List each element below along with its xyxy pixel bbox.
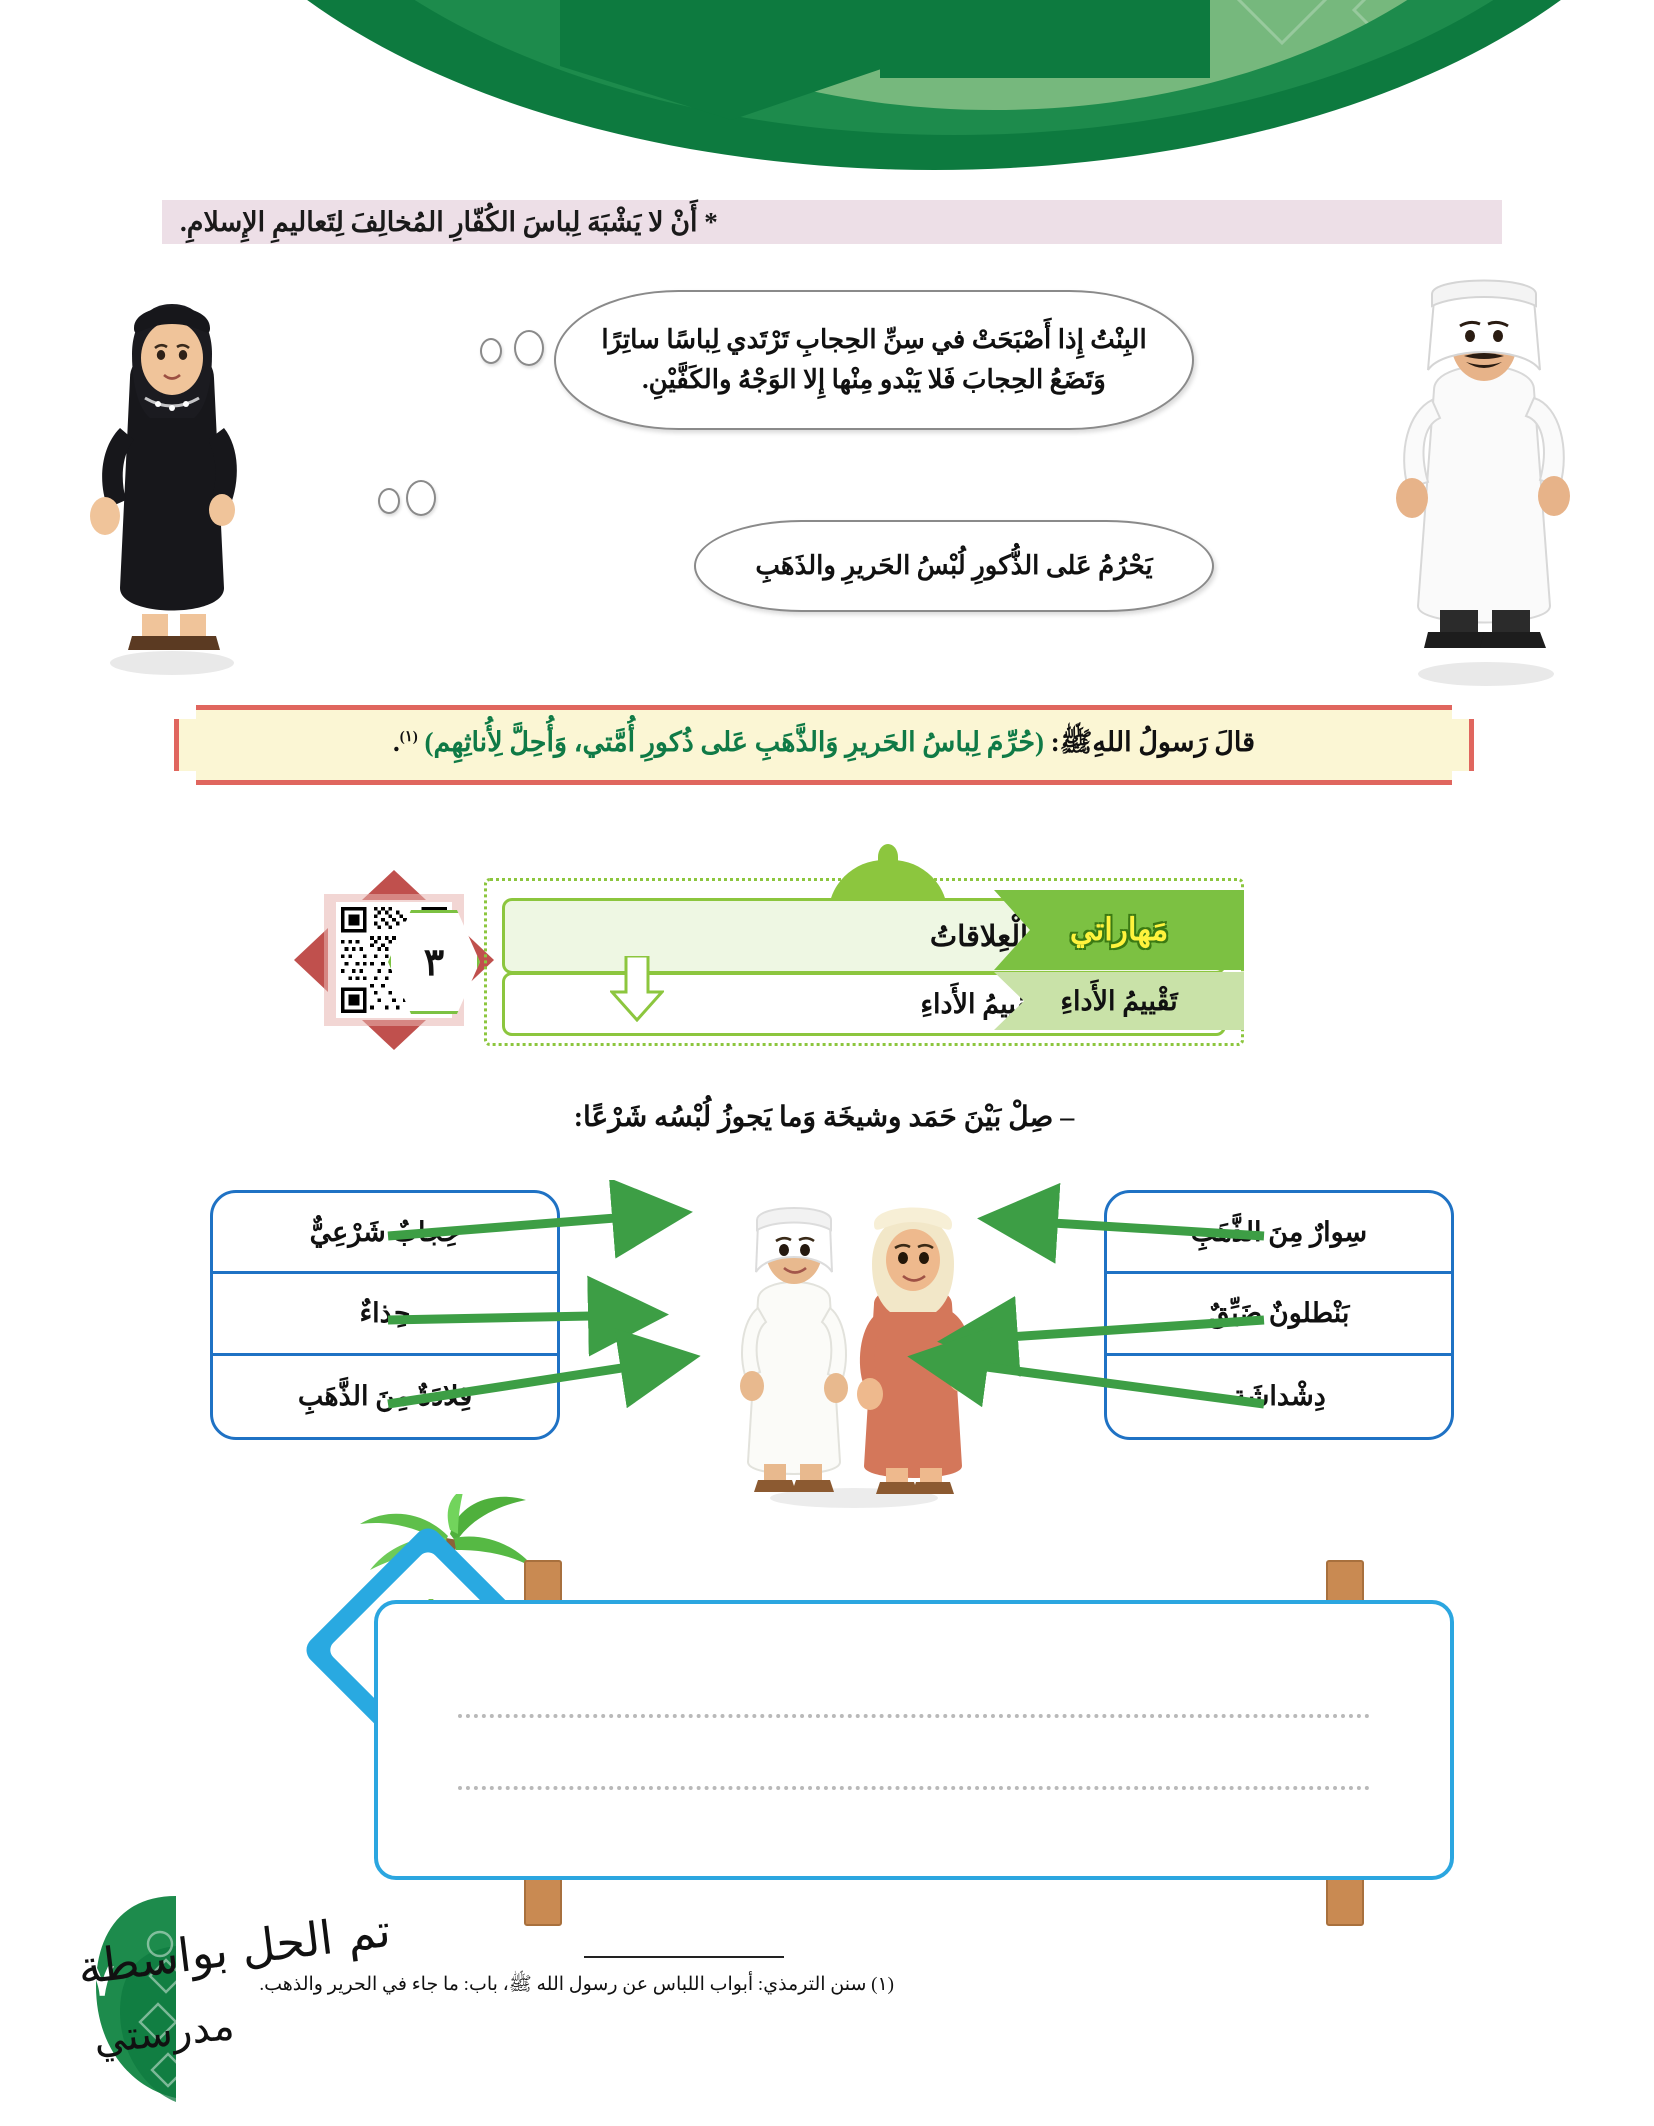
bubble-tail-dot-large-2 xyxy=(406,480,436,516)
speech-bubble-girl: البِنْتُ إِذا أَصْبَحَتْ في سِنِّ الحِجا… xyxy=(554,290,1194,430)
page-root: * أَنْ لا يَشْبَهَ لِباسَ الكُفّارِ المُ… xyxy=(0,0,1654,2126)
bubble-tail-dot-small-2 xyxy=(378,488,400,514)
hadith-lead: قالَ رَسولُ اللهِ xyxy=(1092,727,1255,757)
activity-instruction: – صِلْ بَيْنَ حَمَد وشيخَة وَما يَجوزُ ل… xyxy=(174,1100,1474,1134)
hadith-close-paren: ) xyxy=(425,727,434,757)
hadith-body: حُرِّمَ لِباسُ الحَريرِ وَالذَّهَبِ عَلى… xyxy=(434,727,1036,757)
matching-option-right-1[interactable]: سِوارٌ مِنَ الذَّهَبِ xyxy=(1107,1193,1451,1274)
matching-right-label-2: بَنْطلونٌ ضَيِّقٌ xyxy=(1209,1298,1350,1329)
matching-left-label-3: قِلادَةٌ مِنَ الذَّهَبِ xyxy=(298,1381,472,1412)
matching-right-label-3: دِشْداشَة xyxy=(1232,1381,1325,1412)
matching-left-label-2: حِذاءٌ xyxy=(359,1298,410,1329)
footnote-rule xyxy=(584,1956,784,1958)
matching-left-label-1: حِجابٌ شَرْعِيٌّ xyxy=(310,1217,461,1248)
hadith-colon: : xyxy=(1051,727,1060,757)
avatar-girl xyxy=(72,258,272,678)
board-frame[interactable] xyxy=(374,1600,1454,1880)
bubble-girl-line-1: البِنْتُ إِذا أَصْبَحَتْ في سِنِّ الحِجا… xyxy=(601,320,1146,360)
matching-option-left-3[interactable]: قِلادَةٌ مِنَ الذَّهَبِ xyxy=(213,1356,557,1437)
skills-tab-label: مَهاراتي xyxy=(1070,912,1168,948)
matching-option-left-2[interactable]: حِذاءٌ xyxy=(213,1274,557,1355)
bubble-tail-dot-large-1 xyxy=(514,330,544,366)
avatar-man xyxy=(1374,250,1594,690)
rule-text: * أَنْ لا يَشْبَهَ لِباسَ الكُفّارِ المُ… xyxy=(162,200,1502,244)
matching-box-right: سِوارٌ مِنَ الذَّهَبِ بَنْطلونٌ ضَيِّقٌ … xyxy=(1104,1190,1454,1440)
bubble-girl-line-2: وَتَضَعُ الحِجابَ فَلا يَبْدو مِنْها إِل… xyxy=(642,360,1106,400)
hadith-open-paren: ( xyxy=(1035,727,1044,757)
matching-option-left-1[interactable]: حِجابٌ شَرْعِيٌّ xyxy=(213,1193,557,1274)
matching-box-left: حِجابٌ شَرْعِيٌّ حِذاءٌ قِلادَةٌ مِنَ ال… xyxy=(210,1190,560,1440)
skills-section: الْعِلاقاتُ تَقْييمُ الأَداءِ مَهاراتي ت… xyxy=(484,860,1244,1050)
avatar-kids-pair xyxy=(714,1180,994,1510)
bubble-tail-dot-small-1 xyxy=(480,338,502,364)
hadith-footnote-ref: (١) xyxy=(400,729,418,745)
hadith-period: . xyxy=(393,727,400,757)
avatar-boy xyxy=(740,1208,848,1492)
skills-tab-lower-label: تَقْييمُ الأَداءِ xyxy=(1060,986,1177,1017)
matching-right-label-1: سِوارٌ مِنَ الذَّهَبِ xyxy=(1191,1217,1367,1248)
writing-line-2[interactable] xyxy=(458,1786,1370,1792)
pbuh-icon: ﷺ xyxy=(1060,727,1093,757)
matching-option-right-2[interactable]: بَنْطلونٌ ضَيِّقٌ xyxy=(1107,1274,1451,1355)
hadith-banner: قالَ رَسولُ اللهِﷺ: (حُرِّمَ لِباسُ الحَ… xyxy=(174,705,1474,785)
skills-tab-lower: تَقْييمُ الأَداءِ xyxy=(994,972,1244,1030)
matching-option-right-3[interactable]: دِشْداشَة xyxy=(1107,1356,1451,1437)
top-decorative-band xyxy=(0,0,1654,170)
corner-flag-shape-2 xyxy=(880,0,1210,78)
skills-tab: مَهاراتي xyxy=(994,890,1244,970)
rule-highlight-bar: * أَنْ لا يَشْبَهَ لِباسَ الكُفّارِ المُ… xyxy=(162,200,1502,244)
footnote-text: (١) سنن الترمذي: أبواب اللباس عن رسول ال… xyxy=(154,1972,894,2000)
avatar-girl-child xyxy=(857,1208,974,1495)
speech-bubble-man: يَحْرُمُ عَلى الذُّكورِ لُبْسُ الحَريرِ … xyxy=(694,520,1214,612)
skills-number: ٣ xyxy=(424,940,444,985)
arrow-down-icon xyxy=(610,956,664,1022)
bubble-man-line-1: يَحْرُمُ عَلى الذُّكورِ لُبْسُ الحَريرِ … xyxy=(755,546,1152,586)
daily-plant-writing-board xyxy=(374,1600,1454,1880)
skills-topic-label: الْعِلاقاتُ xyxy=(930,921,1028,953)
writing-line-1[interactable] xyxy=(458,1714,1370,1720)
